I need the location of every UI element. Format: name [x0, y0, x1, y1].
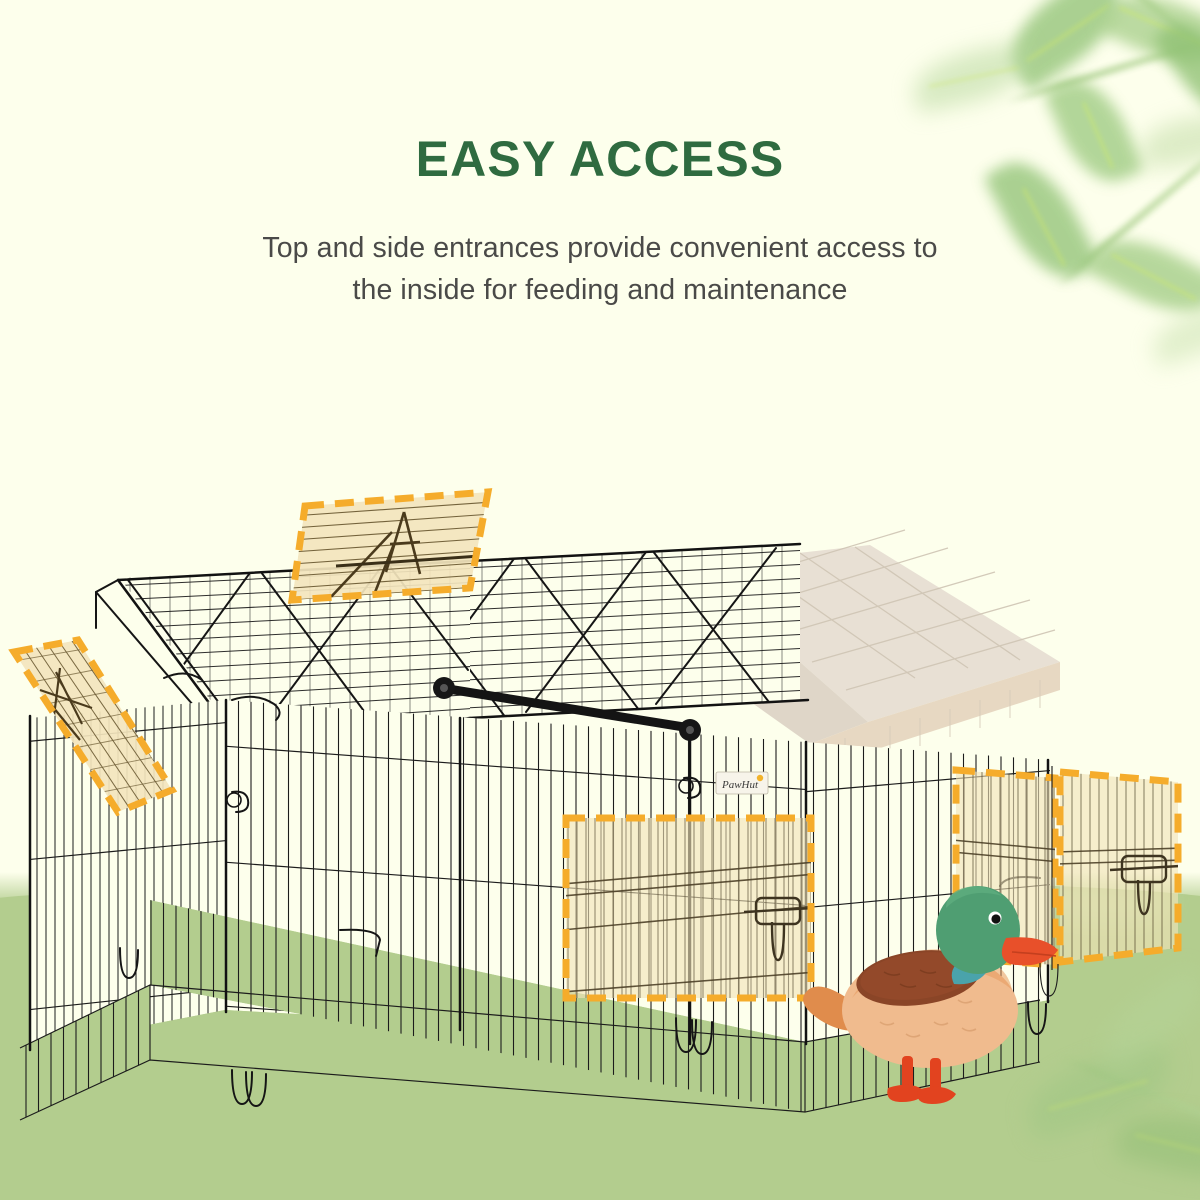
brand-label: PawHut — [716, 772, 768, 794]
product-feature-image: EASY ACCESS Top and side entrances provi… — [0, 0, 1200, 1200]
product-illustration: PawHut — [0, 0, 1200, 1200]
brand-label-text: PawHut — [721, 779, 759, 791]
door-top-entrance[interactable] — [292, 492, 492, 600]
door-front-center[interactable] — [560, 812, 816, 1002]
door-right-b[interactable] — [1055, 766, 1185, 966]
